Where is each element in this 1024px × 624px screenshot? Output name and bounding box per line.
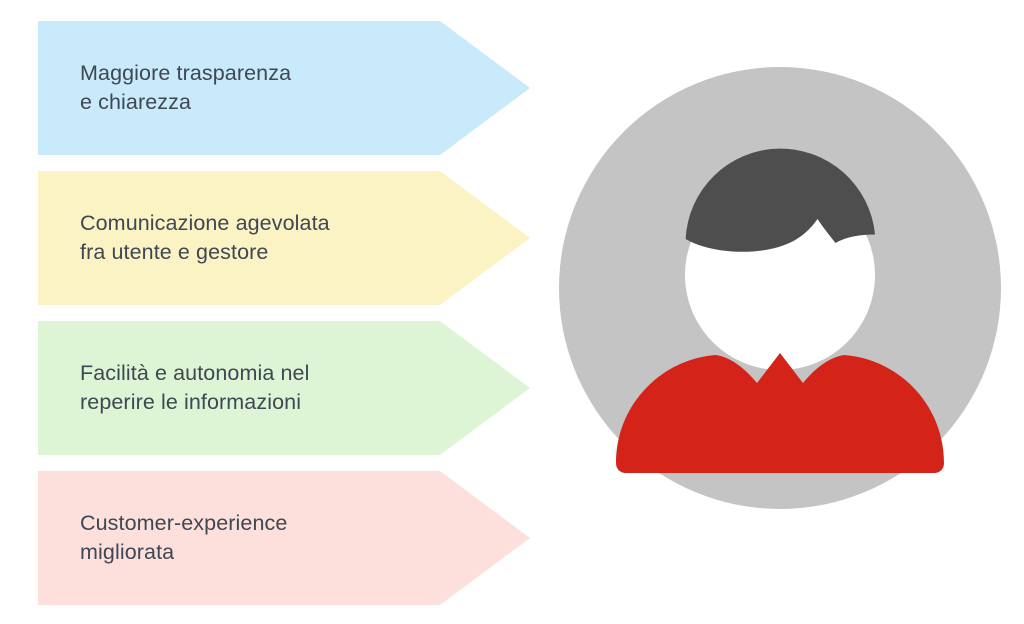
infographic-canvas: Maggiore trasparenza e chiarezza Comunic… [0, 0, 1024, 624]
benefits-banner-list: Maggiore trasparenza e chiarezza Comunic… [0, 0, 540, 624]
banner-label: Comunicazione agevolata fra utente e ges… [80, 209, 330, 267]
person-avatar-icon [559, 67, 1001, 509]
banner-item[interactable]: Facilità e autonomia nel reperire le inf… [38, 321, 530, 455]
banner-label: Facilità e autonomia nel reperire le inf… [80, 359, 309, 417]
banner-label: Maggiore trasparenza e chiarezza [80, 59, 291, 117]
banner-item[interactable]: Maggiore trasparenza e chiarezza [38, 21, 530, 155]
banner-label: Customer-experience migliorata [80, 509, 287, 567]
banner-item[interactable]: Customer-experience migliorata [38, 471, 530, 605]
banner-item[interactable]: Comunicazione agevolata fra utente e ges… [38, 171, 530, 305]
